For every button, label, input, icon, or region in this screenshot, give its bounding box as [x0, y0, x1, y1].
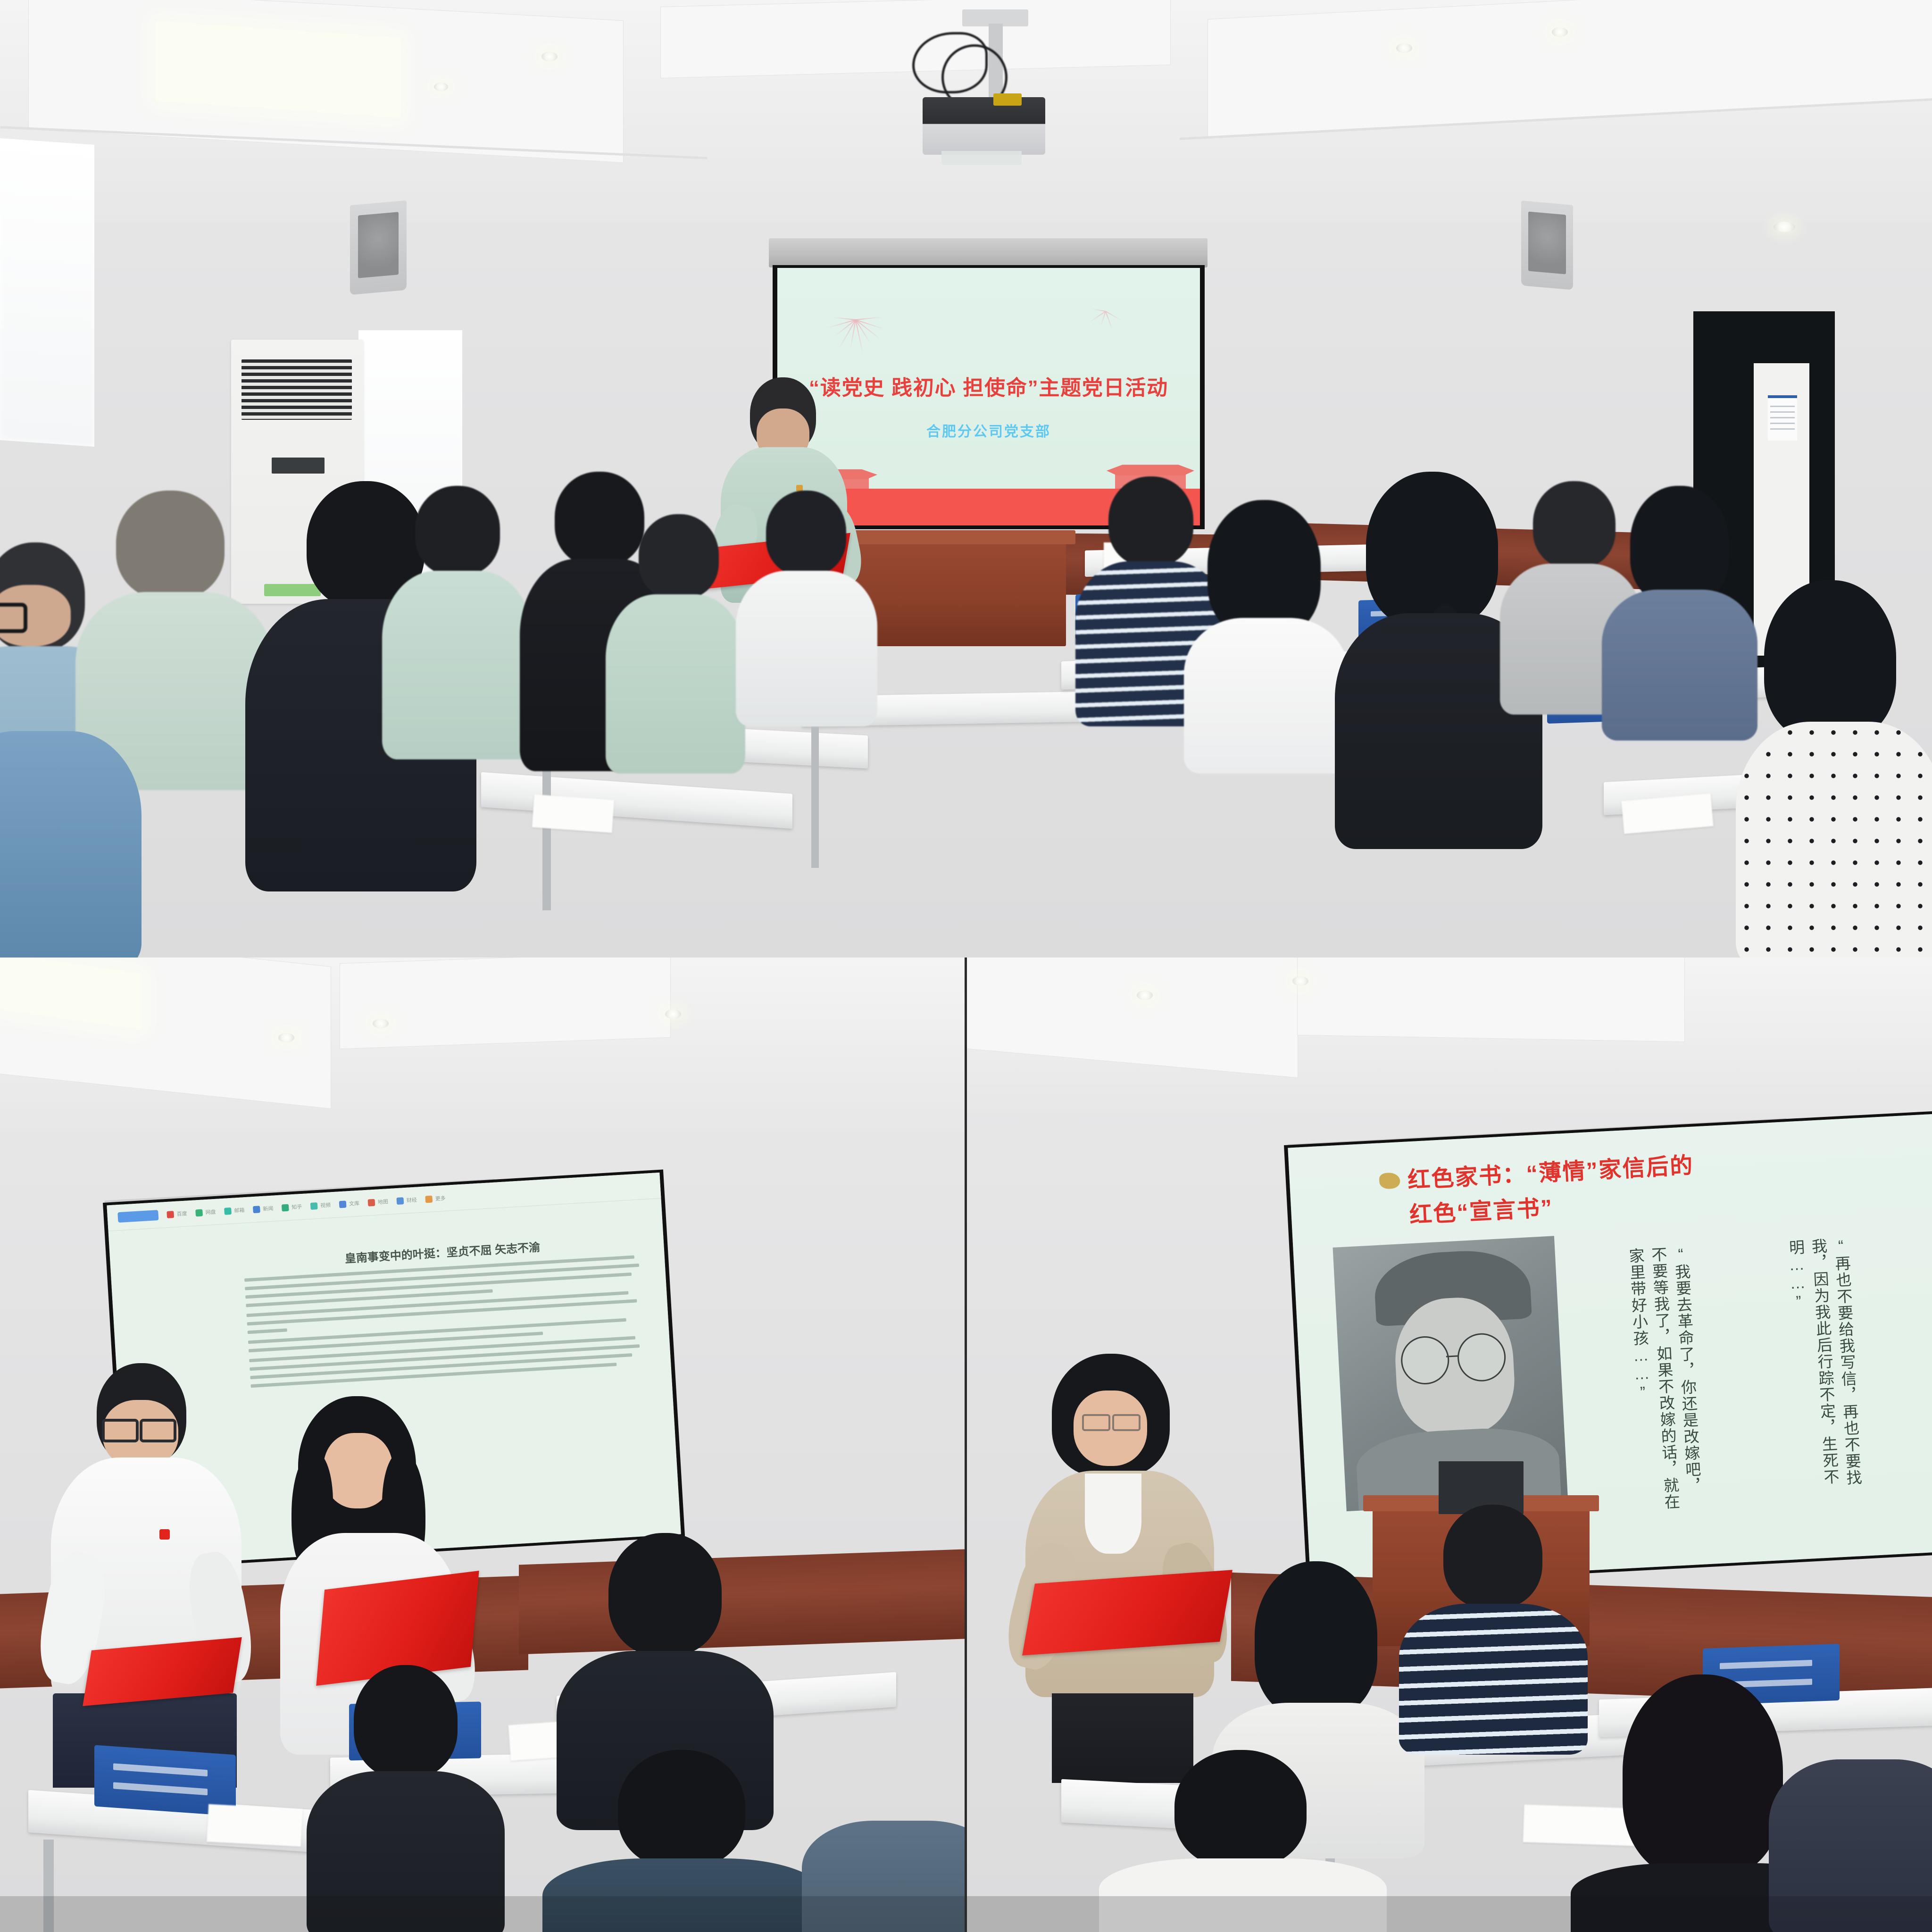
glasses-icon [1082, 1414, 1110, 1431]
inner-blouse [1085, 1474, 1141, 1554]
podium [849, 538, 1066, 646]
screen-housing [769, 238, 1207, 267]
bookmark-item[interactable]: 网盘 [195, 1208, 216, 1217]
door-notice [1768, 395, 1797, 441]
favicon-icon [339, 1200, 347, 1208]
downlight-icon [665, 1009, 681, 1019]
red-folder [1022, 1570, 1232, 1656]
downlight-icon [1552, 27, 1568, 37]
favicon-icon [425, 1195, 433, 1203]
downlight-icon [434, 83, 448, 91]
audience-member [736, 491, 877, 717]
favicon-icon [310, 1202, 318, 1210]
favicon-icon [396, 1197, 404, 1205]
glasses-icon [1112, 1414, 1141, 1431]
letter-quote-left: “再也不要给我写信，再也不要找我，因为我此后行踪不定，生死不明……” [1784, 1236, 1865, 1504]
ceiling-coffer [340, 958, 671, 1049]
bookmark-item[interactable]: 文库 [339, 1199, 360, 1208]
audience-member [377, 486, 533, 750]
article-body: 皇南事变中的叶挺：坚贞不屈 矢志不渝 [243, 1232, 649, 1393]
paper [207, 1804, 303, 1847]
downlight-icon [373, 1019, 389, 1028]
glasses-icon [140, 1419, 176, 1442]
fireworks-icon [1084, 292, 1126, 330]
bookmark-item[interactable]: 百度 [167, 1209, 187, 1218]
bookmark-pill[interactable] [117, 1210, 158, 1223]
favicon-icon [195, 1209, 203, 1216]
ceiling-coffer [1297, 958, 1685, 1042]
audience-member [604, 514, 745, 759]
downlight-icon [1396, 43, 1412, 53]
audience-member [1736, 580, 1932, 958]
downlight-icon [1137, 991, 1153, 1000]
party-badge [159, 1529, 170, 1540]
bookmark-item[interactable]: 视频 [310, 1201, 331, 1210]
presenter [47, 1363, 245, 1788]
downlight-icon [278, 1033, 294, 1042]
audience-member [302, 1665, 500, 1932]
glasses-icon [102, 1419, 139, 1442]
desk-leg [542, 755, 551, 910]
downlight-icon [541, 52, 558, 61]
bookmark-item[interactable]: 更多 [425, 1194, 446, 1203]
letter-quote-right: “我要去革命了，你还是改嫁吧，不要等我了，如果不改嫁的话，就在家里带好小孩……” [1624, 1245, 1705, 1512]
favicon-icon [167, 1211, 174, 1218]
ceiling-panel-light [156, 21, 401, 118]
bookmark-item[interactable]: 财经 [396, 1196, 417, 1205]
ceiling-projector [896, 9, 1057, 179]
favicon-icon [224, 1207, 232, 1215]
downlight-icon [1292, 976, 1308, 986]
collage-panel-top: “读党史 践初心 担使命”主题党日活动 合肥分公司党支部 [0, 0, 1932, 958]
favicon-icon [368, 1199, 375, 1206]
bookmark-item[interactable]: 地图 [367, 1198, 388, 1207]
bookmark-item[interactable]: 知乎 [282, 1203, 302, 1212]
favicon-icon [282, 1204, 289, 1211]
downlight-icon [1774, 222, 1795, 232]
audience-member [1179, 500, 1349, 764]
favicon-icon [253, 1206, 260, 1213]
bookmark-item[interactable]: 新闻 [253, 1205, 274, 1214]
fireworks-icon [820, 287, 891, 353]
collage-panel-bottom-right: 红色家书：“薄情”家信后的 红色“宣言书” “再也不要给我写信，再也不要找我，因… [967, 958, 1932, 1932]
photo-collage: “读党史 践初心 担使命”主题党日活动 合肥分公司党支部 [0, 0, 1932, 1932]
desk-leg [811, 726, 819, 868]
audience-member [0, 731, 142, 958]
paper [532, 794, 614, 833]
window [0, 138, 94, 447]
audience-member [1599, 486, 1755, 731]
presenter [1019, 1354, 1222, 1788]
ornament-icon [1379, 1172, 1400, 1189]
wall-speaker [350, 200, 407, 295]
collage-panel-bottom-left: 百度 网盘 邮箱 新闻 知乎 视频 文库 地图 财经 更多 皇南事 [0, 958, 965, 1932]
wall-speaker [1521, 200, 1573, 290]
bookmark-item[interactable]: 邮箱 [224, 1206, 245, 1215]
